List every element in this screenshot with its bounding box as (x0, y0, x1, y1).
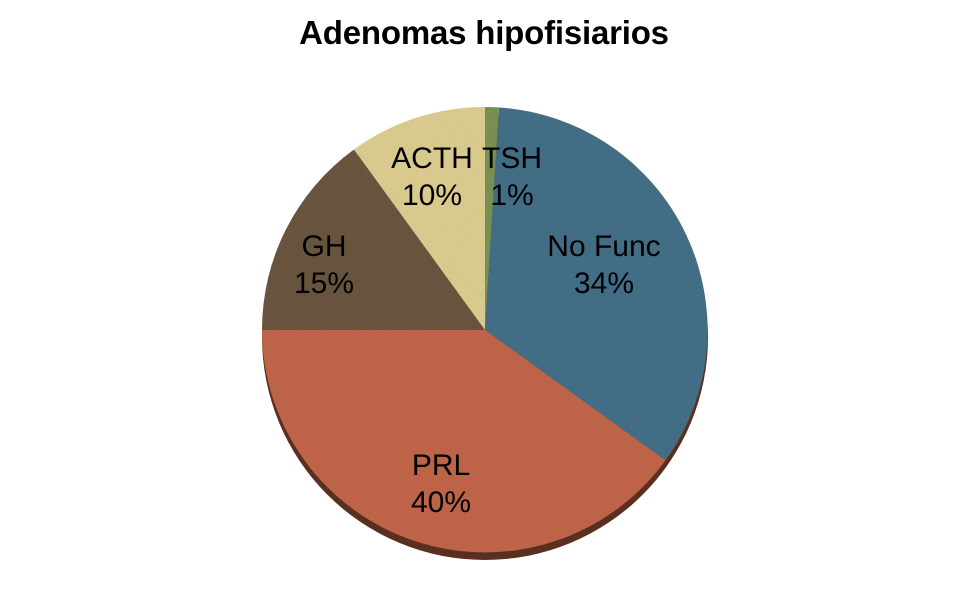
pie-svg (262, 107, 708, 559)
pie-slices-group (262, 107, 708, 552)
pie-chart-page: Adenomas hipofisiarios (0, 0, 968, 605)
pie-chart-figure (262, 107, 708, 553)
chart-title: Adenomas hipofisiarios (0, 14, 968, 52)
